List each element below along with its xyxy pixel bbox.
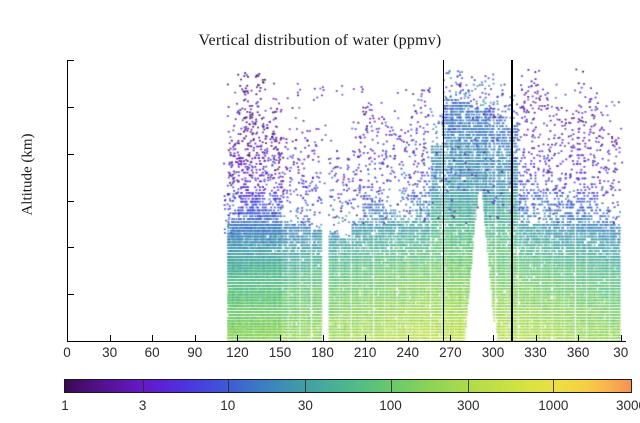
colorbar-tick-mark: [553, 379, 554, 393]
y-axis-label: Altitude (km): [20, 95, 37, 255]
y-tick-mark: [68, 60, 74, 61]
colorbar-tick-mark: [391, 379, 392, 393]
x-tick-label: 240: [385, 345, 431, 360]
x-tick-label: 30: [87, 345, 133, 360]
x-tick-label: 270: [427, 345, 473, 360]
x-tick-label: 60: [129, 345, 175, 360]
colorbar-gradient: [65, 380, 631, 392]
x-tick-label: 120: [214, 345, 260, 360]
x-tick-mark: [280, 335, 281, 341]
x-tick-label: 30: [598, 345, 640, 360]
x-axis-line: [67, 341, 626, 342]
colorbar-tick-label: 10: [198, 398, 258, 413]
x-tick-mark: [67, 335, 68, 341]
colorbar-tick-mark: [305, 379, 306, 393]
y-tick-mark: [68, 294, 74, 295]
x-tick-mark: [152, 335, 153, 341]
x-tick-mark: [237, 335, 238, 341]
figure-root: Vertical distribution of water (ppmv) Al…: [0, 0, 640, 423]
x-tick-mark: [450, 335, 451, 341]
x-tick-label: 0: [44, 345, 90, 360]
event-line-start: [443, 60, 444, 341]
colorbar-tick-mark: [228, 379, 229, 393]
event-line-end: [511, 60, 512, 341]
x-tick-mark: [365, 335, 366, 341]
colorbar-tick-label: 30: [275, 398, 335, 413]
colorbar: [64, 379, 632, 393]
x-tick-label: 90: [172, 345, 218, 360]
x-tick-mark: [323, 335, 324, 341]
x-tick-mark: [408, 335, 409, 341]
colorbar-tick-mark: [468, 379, 469, 393]
y-tick-mark: [68, 201, 74, 202]
y-tick-mark: [68, 107, 74, 108]
colorbar-tick-label: 300: [438, 398, 498, 413]
x-tick-mark: [110, 335, 111, 341]
page-title: Vertical distribution of water (ppmv): [0, 32, 640, 50]
colorbar-tick-label: 3000: [601, 398, 640, 413]
x-tick-mark: [578, 335, 579, 341]
x-tick-mark: [195, 335, 196, 341]
x-tick-mark: [621, 335, 622, 341]
colorbar-tick-label: 100: [361, 398, 421, 413]
y-tick-mark: [68, 154, 74, 155]
x-tick-label: 360: [555, 345, 601, 360]
colorbar-tick-label: 3: [113, 398, 173, 413]
y-tick-mark: [68, 341, 74, 342]
x-tick-mark: [536, 335, 537, 341]
plot-area: [67, 60, 625, 341]
scatter-plot-canvas: [67, 60, 625, 341]
x-tick-label: 210: [342, 345, 388, 360]
x-tick-label: 330: [513, 345, 559, 360]
x-tick-mark: [493, 335, 494, 341]
colorbar-tick-mark: [631, 379, 632, 393]
x-tick-label: 300: [470, 345, 516, 360]
colorbar-tick-mark: [143, 379, 144, 393]
colorbar-tick-label: 1: [35, 398, 95, 413]
x-tick-label: 150: [257, 345, 303, 360]
colorbar-tick-label: 1000: [523, 398, 583, 413]
y-tick-mark: [68, 247, 74, 248]
x-tick-label: 180: [300, 345, 346, 360]
